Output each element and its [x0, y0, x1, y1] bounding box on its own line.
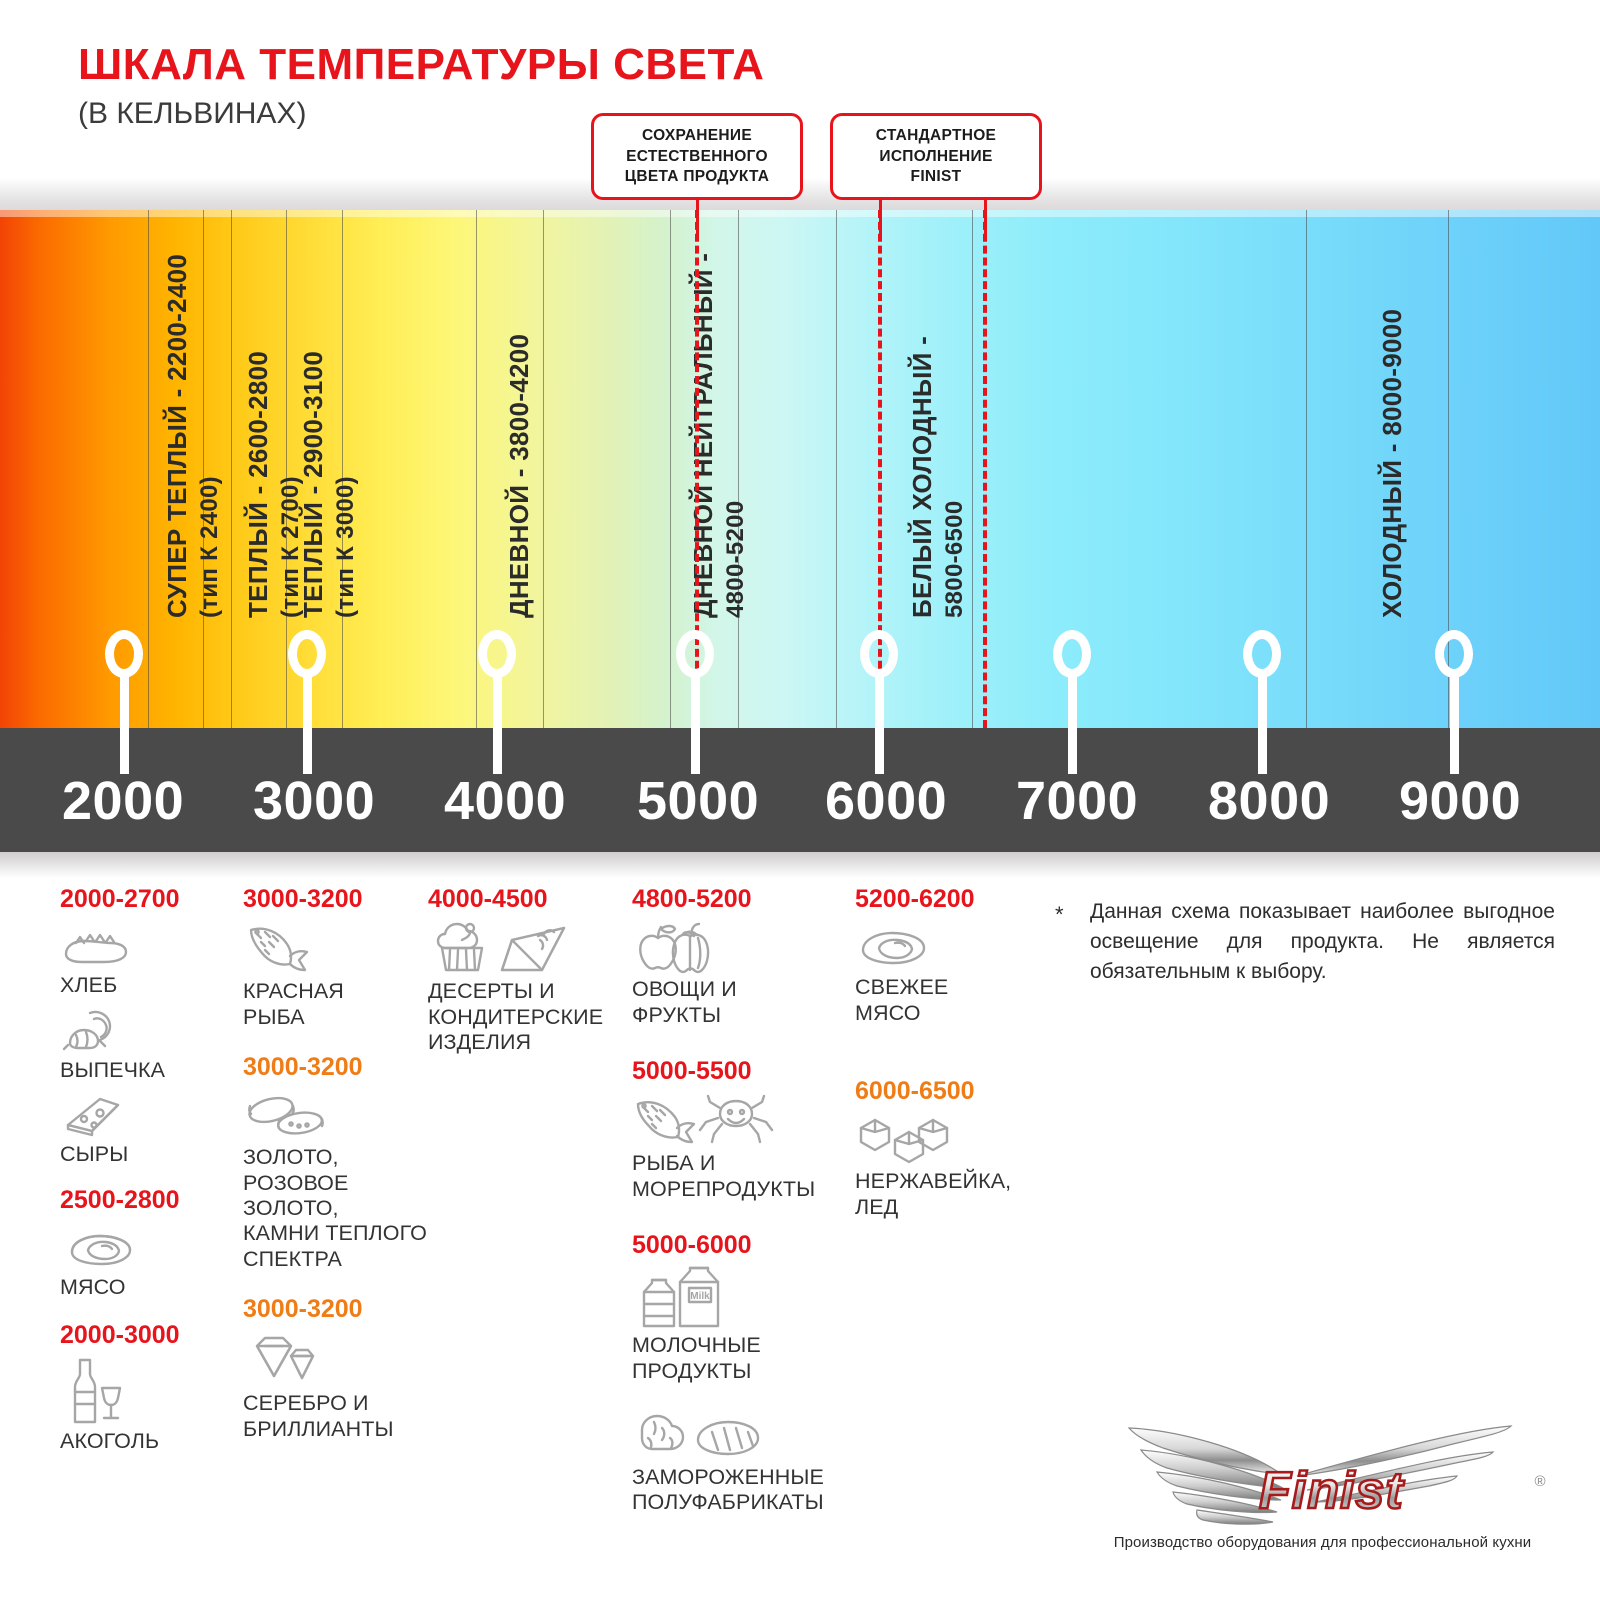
- legend-range: 4800-5200: [632, 886, 857, 912]
- callout-line: ЦВЕТА ПРОДУКТА: [602, 167, 792, 188]
- axis-bottom-shadow: [0, 852, 1600, 878]
- pin-stem: [120, 674, 129, 774]
- band-label-white-cold: БЕЛЫЙ ХОЛОДНЫЙ -: [907, 336, 938, 618]
- dessert-icon: [428, 918, 623, 976]
- legend-item: РЫБА И МОРЕПРОДУКТЫ: [632, 1090, 857, 1202]
- band-label-daylight: ДНЕВНОЙ - 3800-4200: [504, 334, 535, 618]
- band-label-super-warm-type: (тип К 2400): [196, 476, 224, 618]
- axis-tick-7000: 7000: [1016, 770, 1138, 832]
- pin-stem: [1450, 674, 1459, 774]
- pin-head-icon: [1053, 630, 1091, 678]
- legend-range: 5000-5500: [632, 1058, 857, 1084]
- band-label-super-warm: СУПЕР ТЕПЛЫЙ - 2200-2400: [162, 254, 193, 618]
- pin-head-icon: [478, 630, 516, 678]
- legend-item: ВЫПЕЧКА: [60, 1003, 230, 1083]
- legend-item-label: СВЕЖЕЕ МЯСО: [855, 975, 1040, 1026]
- legend-column-3: 4000-4500 ДЕСЕРТЫ И КОНДИТЕРСКИЕ ИЗДЕЛИЯ: [428, 886, 623, 1075]
- seafood-icon: [632, 1090, 857, 1148]
- band-label-daylight-neutral-range: 4800-5200: [722, 501, 750, 618]
- axis-tick-6000: 6000: [825, 770, 947, 832]
- legend-item: МЯСО: [60, 1220, 230, 1300]
- rings-icon: [243, 1086, 428, 1142]
- band-label-daylight-neutral: ДНЕВНОЙ НЕЙТРАЛЬНЫЙ -: [688, 253, 719, 618]
- band-label-white-cold-range: 5800-6500: [941, 501, 969, 618]
- legend-item-label: РЫБА И МОРЕПРОДУКТЫ: [632, 1151, 857, 1202]
- legend-range: 6000-6500: [855, 1078, 1040, 1104]
- axis-tick-3000: 3000: [253, 770, 375, 832]
- callout-finist-standard: СТАНДАРТНОЕ ИСПОЛНЕНИЕ FINIST: [830, 113, 1042, 200]
- pin-head-icon: [288, 630, 326, 678]
- legend-group: 2000-3000 АКОГОЛЬ: [60, 1322, 230, 1455]
- legend-item-label: ВЫПЕЧКА: [60, 1058, 230, 1083]
- finist-wordmark: Finist: [1259, 1462, 1405, 1520]
- legend-item-label: СЕРЕБРО И БРИЛЛИАНТЫ: [243, 1391, 428, 1442]
- legend-item-label: КРАСНАЯ РЫБА: [243, 979, 428, 1030]
- legend-item: СЕРЕБРО И БРИЛЛИАНТЫ: [243, 1328, 428, 1442]
- band-divider: [342, 210, 343, 728]
- callout-line: ИСПОЛНЕНИЕ: [841, 147, 1031, 168]
- page-title: ШКАЛА ТЕМПЕРАТУРЫ СВЕТА: [78, 40, 764, 90]
- legend-item: КРАСНАЯ РЫБА: [243, 918, 428, 1030]
- band-divider: [836, 210, 837, 728]
- legend-group: 3000-3200 ЗОЛОТО, РОЗОВОЕ ЗОЛОТО, КАМНИ …: [243, 1054, 428, 1272]
- band-divider: [286, 210, 287, 728]
- fresh-meat-icon: [855, 918, 1040, 972]
- legend-item-label: МОЛОЧНЫЕ ПРОДУКТЫ: [632, 1333, 857, 1384]
- legend-group: 5200-6200 СВЕЖЕЕ МЯСО: [855, 886, 1040, 1026]
- steak-icon: [60, 1220, 230, 1272]
- legend-item-label: ХЛЕБ: [60, 973, 230, 998]
- legend-group: 4000-4500 ДЕСЕРТЫ И КОНДИТЕРСКИЕ ИЗДЕЛИЯ: [428, 886, 623, 1055]
- band-label-cold: ХОЛОДНЫЙ - 8000-9000: [1377, 309, 1408, 618]
- legend-item-label: ОВОЩИ И ФРУКТЫ: [632, 977, 857, 1028]
- legend-item: АКОГОЛЬ: [60, 1354, 230, 1454]
- legend-group: 2000-2700 ХЛЕБ: [60, 886, 230, 1167]
- legend-item-label: НЕРЖАВЕЙКА, ЛЕД: [855, 1169, 1040, 1220]
- legend-item: ДЕСЕРТЫ И КОНДИТЕРСКИЕ ИЗДЕЛИЯ: [428, 918, 623, 1055]
- fish-icon: [243, 918, 428, 976]
- legend-range: 5200-6200: [855, 886, 1040, 912]
- legend-group: 5000-6000 Milk МОЛОЧНЫЕ ПРОДУКТЫ: [632, 1232, 857, 1516]
- legend-item-label: СЫРЫ: [60, 1142, 230, 1167]
- pin-stem: [875, 674, 884, 774]
- pin-stem: [1258, 674, 1267, 774]
- marker-finist-end: [983, 210, 987, 728]
- pin-stem: [493, 674, 502, 774]
- legend-range: 2000-2700: [60, 886, 230, 912]
- alcohol-icon: [60, 1354, 230, 1426]
- band-label-warm-3000: ТЕПЛЫЙ - 2900-3100: [298, 351, 329, 618]
- axis-tick-8000: 8000: [1208, 770, 1330, 832]
- legend-item: Milk МОЛОЧНЫЕ ПРОДУКТЫ: [632, 1264, 857, 1384]
- finist-logo: Finist ® Производство оборудования для п…: [1085, 1390, 1560, 1551]
- diamond-icon: [243, 1328, 428, 1388]
- cheese-icon: [60, 1087, 230, 1139]
- callout-line: ЕСТЕСТВЕННОГО: [602, 147, 792, 168]
- legend-column-2: 3000-3200 КРАСНАЯ РЫБА 3000-3200: [243, 886, 428, 1462]
- legend-item: СЫРЫ: [60, 1087, 230, 1167]
- callout-line: СТАНДАРТНОЕ: [841, 126, 1031, 147]
- pin-stem: [691, 674, 700, 774]
- band-divider: [231, 210, 232, 728]
- infographic-root: ШКАЛА ТЕМПЕРАТУРЫ СВЕТА (В КЕЛЬВИНАХ) СО…: [0, 0, 1600, 1600]
- legend-item-label: ДЕСЕРТЫ И КОНДИТЕРСКИЕ ИЗДЕЛИЯ: [428, 979, 623, 1055]
- scale-highlight: [0, 210, 1600, 217]
- axis-tick-5000: 5000: [637, 770, 759, 832]
- croissant-icon: [60, 1003, 230, 1055]
- legend-item: ХЛЕБ: [60, 918, 230, 998]
- band-divider: [203, 210, 204, 728]
- footnote-star: *: [1055, 899, 1064, 930]
- callout-line: FINIST: [841, 167, 1031, 188]
- finist-brand-text: Finist: [1259, 1462, 1405, 1520]
- bread-icon: [60, 918, 230, 970]
- legend-group: 3000-3200 СЕРЕБРО И БРИЛЛИАНТЫ: [243, 1296, 428, 1442]
- band-divider: [670, 210, 671, 728]
- legend-item: ОВОЩИ И ФРУКТЫ: [632, 918, 857, 1028]
- vegetables-fruits-icon: [632, 918, 857, 974]
- legend-item: ЗОЛОТО, РОЗОВОЕ ЗОЛОТО, КАМНИ ТЕПЛОГО СП…: [243, 1086, 428, 1272]
- band-divider: [1306, 210, 1307, 728]
- axis-tick-2000: 2000: [62, 770, 184, 832]
- axis-tick-9000: 9000: [1399, 770, 1521, 832]
- legend-item-label: АКОГОЛЬ: [60, 1429, 230, 1454]
- legend-group: 4800-5200 ОВОЩИ И ФРУКТЫ: [632, 886, 857, 1028]
- legend-range: 4000-4500: [428, 886, 623, 912]
- logo-tagline: Производство оборудования для профессион…: [1085, 1534, 1560, 1551]
- legend-range: 3000-3200: [243, 886, 428, 912]
- pin-head-icon: [860, 630, 898, 678]
- legend-range: 3000-3200: [243, 1296, 428, 1322]
- band-divider: [738, 210, 739, 728]
- legend-group: 2500-2800 МЯСО: [60, 1187, 230, 1300]
- pin-head-icon: [105, 630, 143, 678]
- band-label-warm-2700: ТЕПЛЫЙ - 2600-2800: [243, 351, 274, 618]
- svg-text:Milk: Milk: [690, 1291, 710, 1302]
- legend-group: 6000-6500 НЕРЖАВЕЙКА, ЛЕД: [855, 1078, 1040, 1220]
- legend-group: 5000-5500 РЫБА И МОРЕПРОДУКТ: [632, 1058, 857, 1202]
- legend-range: 2500-2800: [60, 1187, 230, 1213]
- legend-column-1: 2000-2700 ХЛЕБ: [60, 886, 230, 1475]
- legend-item-label: МЯСО: [60, 1275, 230, 1300]
- axis-tick-4000: 4000: [444, 770, 566, 832]
- legend-range: 5000-6000: [632, 1232, 857, 1258]
- legend-column-5: 5200-6200 СВЕЖЕЕ МЯСО 6000-6500: [855, 886, 1040, 1240]
- legend-range: 3000-3200: [243, 1054, 428, 1080]
- callout-natural-color: СОХРАНЕНИЕ ЕСТЕСТВЕННОГО ЦВЕТА ПРОДУКТА: [591, 113, 803, 200]
- band-divider: [543, 210, 544, 728]
- pin-stem: [303, 674, 312, 774]
- pin-head-icon: [1243, 630, 1281, 678]
- pin-stem: [1068, 674, 1077, 774]
- band-divider: [148, 210, 149, 728]
- legend-item: ЗАМОРОЖЕННЫЕ ПОЛУФАБРИКАТЫ: [632, 1404, 857, 1516]
- band-divider: [972, 210, 973, 728]
- legend-group: 3000-3200 КРАСНАЯ РЫБА: [243, 886, 428, 1030]
- footnote-text: Данная схема показывает наиболее выгодно…: [1090, 897, 1555, 986]
- legend-column-4: 4800-5200 ОВОЩИ И ФРУКТЫ 5000-: [632, 886, 857, 1536]
- legend-item-label: ЗОЛОТО, РОЗОВОЕ ЗОЛОТО, КАМНИ ТЕПЛОГО СП…: [243, 1145, 428, 1272]
- pin-head-icon: [676, 630, 714, 678]
- footnote: * Данная схема показывает наиболее выгод…: [1055, 897, 1555, 986]
- legend-item: НЕРЖАВЕЙКА, ЛЕД: [855, 1110, 1040, 1220]
- registered-mark: ®: [1534, 1473, 1545, 1490]
- scale-gradient: [0, 210, 1600, 728]
- color-temperature-scale: СУПЕР ТЕПЛЫЙ - 2200-2400 (тип К 2400) ТЕ…: [0, 210, 1600, 728]
- callout-line: СОХРАНЕНИЕ: [602, 126, 792, 147]
- frozen-food-icon: [632, 1404, 857, 1462]
- finist-logo-mark: Finist ®: [1085, 1390, 1560, 1535]
- legend-range: 2000-3000: [60, 1322, 230, 1348]
- ice-cubes-icon: [855, 1110, 1040, 1166]
- axis-bar: [0, 728, 1600, 852]
- band-label-warm-3000-type: (тип К 3000): [332, 476, 360, 618]
- band-divider: [476, 210, 477, 728]
- milk-icon: Milk: [632, 1264, 857, 1330]
- legend-item: СВЕЖЕЕ МЯСО: [855, 918, 1040, 1026]
- legend-item-label: ЗАМОРОЖЕННЫЕ ПОЛУФАБРИКАТЫ: [632, 1465, 857, 1516]
- pin-head-icon: [1435, 630, 1473, 678]
- page-subtitle: (В КЕЛЬВИНАХ): [78, 97, 306, 131]
